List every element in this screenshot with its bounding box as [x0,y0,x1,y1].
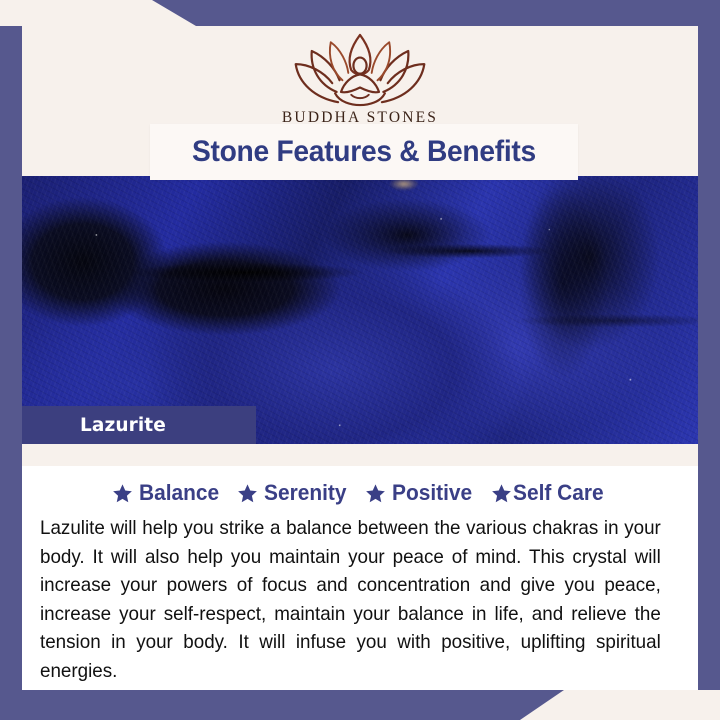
stone-photo-sparkles [22,176,698,444]
benefit-item: Self Care [491,480,608,506]
content-panel: BalanceSerenityPositiveSelf Care Lazulit… [22,444,698,690]
star-icon [365,483,386,504]
benefit-item: Serenity [237,480,351,506]
stone-name-label: Lazurite [22,415,166,436]
poster-canvas: BUDDHA STONES Stone Features & Benefits … [0,0,720,720]
frame-edge-left [0,0,22,720]
benefit-item: Positive [365,480,476,506]
page-title-banner: Stone Features & Benefits [150,124,578,180]
benefit-label: Balance [139,480,219,506]
poster-card: BUDDHA STONES Stone Features & Benefits … [22,26,698,690]
benefit-label: Self Care [513,480,604,506]
stone-photo [22,176,698,444]
benefit-item: Balance [112,480,223,506]
page-title: Stone Features & Benefits [192,135,536,169]
lotus-meditation-icon [285,32,435,108]
benefit-label: Positive [392,480,472,506]
benefits-list: BalanceSerenityPositiveSelf Care [40,480,680,506]
stone-name-tag: Lazurite [22,406,256,444]
star-icon [112,483,133,504]
frame-edge-right [698,0,720,720]
stone-description: Lazulite will help you strike a balance … [40,514,661,685]
benefit-label: Serenity [264,480,346,506]
star-icon [237,483,258,504]
content-inner: BalanceSerenityPositiveSelf Care Lazulit… [22,466,698,690]
star-icon [491,483,512,504]
